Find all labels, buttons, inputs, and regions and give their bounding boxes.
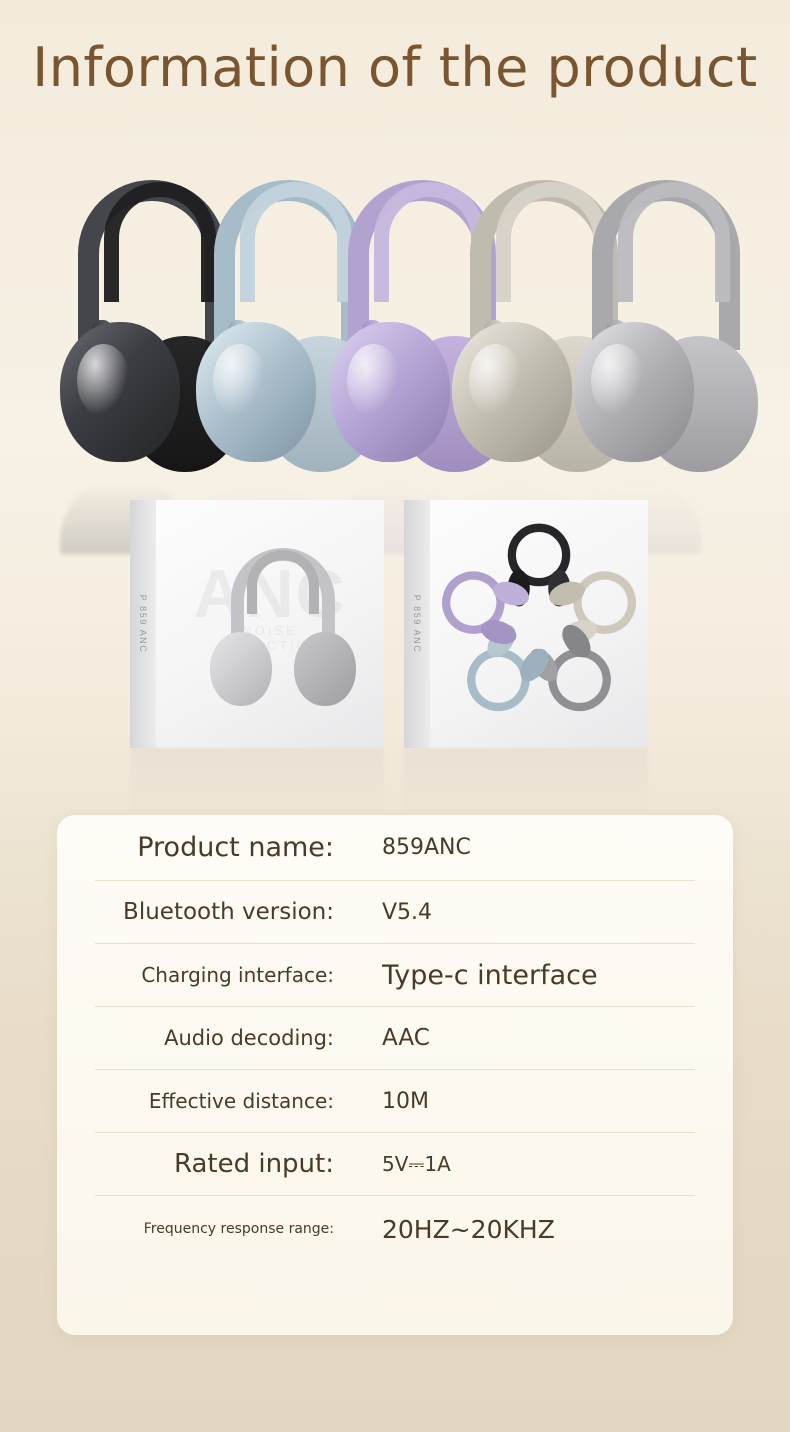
ear-cup — [452, 322, 572, 462]
ear-cup — [60, 322, 180, 462]
spec-row-product-name: Product name: 859ANC — [95, 815, 695, 881]
spec-label: Rated input: — [95, 1149, 340, 1179]
cup-gloss — [347, 344, 400, 417]
box-spine-text: P 859 ANC — [412, 595, 422, 654]
spec-label: Product name: — [95, 832, 340, 863]
box-spine: P 859 ANC — [404, 500, 430, 748]
spec-value: 859ANC — [340, 835, 695, 860]
spec-label: Frequency response range: — [95, 1221, 340, 1237]
ear-cup — [574, 322, 694, 462]
spec-label: Effective distance: — [95, 1089, 340, 1113]
product-box-multi: P 859 ANC — [404, 500, 648, 748]
box-color-wheel — [444, 518, 634, 730]
spec-row-frequency-response: Frequency response range: 20HZ~20KHZ — [95, 1196, 695, 1262]
box-reflection — [130, 748, 384, 810]
box-spine: P 859 ANC — [130, 500, 156, 748]
product-box-row: P 859 ANC ANC NOISE REDUCTION P 859 ANC — [0, 494, 790, 794]
headphone-grey — [566, 180, 766, 480]
spec-row-charging-interface: Charging interface: Type-c interface — [95, 944, 695, 1007]
box-face: ANC NOISE REDUCTION — [156, 500, 384, 748]
cup-gloss — [469, 344, 522, 417]
mini-ear-cup-left — [210, 632, 272, 706]
mini-headband-pad — [247, 550, 319, 614]
spec-value: 5V⎓1A — [340, 1152, 695, 1176]
spec-value: AAC — [340, 1025, 695, 1051]
ear-cup — [196, 322, 316, 462]
spec-label: Bluetooth version: — [95, 899, 340, 925]
box-face — [430, 500, 648, 748]
spec-label: Audio decoding: — [95, 1026, 340, 1050]
spec-row-bluetooth-version: Bluetooth version: V5.4 — [95, 881, 695, 944]
box-headphone-illustration — [208, 548, 358, 706]
box-reflection — [404, 748, 648, 810]
spec-row-effective-distance: Effective distance: 10M — [95, 1070, 695, 1133]
cup-gloss — [213, 344, 266, 417]
cup-gloss — [591, 344, 644, 417]
spec-row-rated-input: Rated input: 5V⎓1A — [95, 1133, 695, 1196]
cup-gloss — [77, 344, 130, 417]
spec-value: Type-c interface — [340, 960, 695, 991]
specification-card: Product name: 859ANC Bluetooth version: … — [57, 815, 733, 1335]
box-spine-text: P 859 ANC — [138, 595, 148, 654]
spec-value: 10M — [340, 1089, 695, 1114]
headband-pad — [618, 182, 730, 302]
spec-label: Charging interface: — [95, 963, 340, 987]
mini-ear-cup-right — [294, 632, 356, 706]
spec-row-audio-decoding: Audio decoding: AAC — [95, 1007, 695, 1070]
product-box-single: P 859 ANC ANC NOISE REDUCTION — [130, 500, 384, 748]
spec-value: 20HZ~20KHZ — [340, 1215, 695, 1244]
page-title: Information of the product — [0, 36, 790, 99]
spec-value: V5.4 — [340, 900, 695, 925]
ear-cup — [330, 322, 450, 462]
hero-headphone-row — [0, 150, 790, 480]
